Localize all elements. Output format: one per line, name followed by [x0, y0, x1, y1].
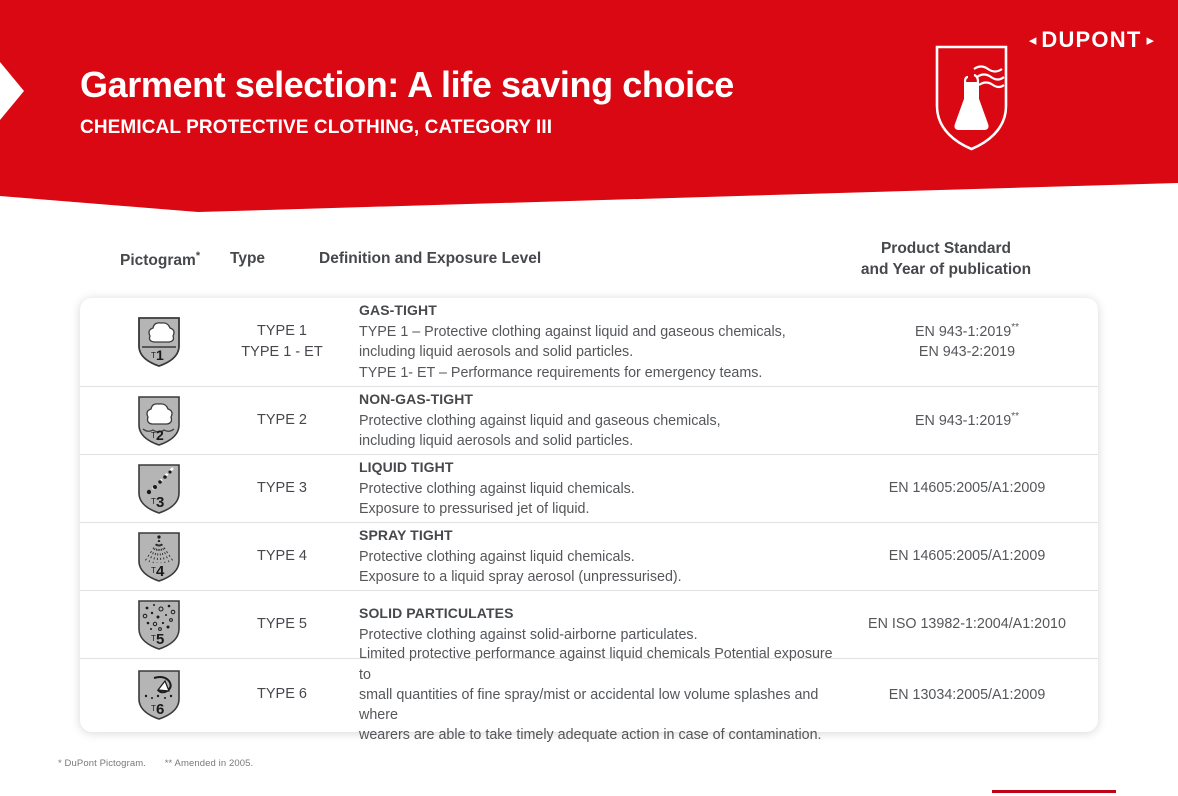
column-header-pictogram-asterisk: *	[196, 250, 200, 262]
row-pictogram-cell: T 5	[80, 599, 238, 651]
row-definition-cell: GAS-TIGHT TYPE 1 – Protective clothing a…	[326, 301, 848, 383]
row-standard-line2: EN 943-2:2019	[848, 342, 1086, 363]
type-1-gas-cloud-shield-pictogram-icon: T 1	[137, 316, 181, 368]
row-definition-cell: SPRAY TIGHT Protective clothing against …	[326, 526, 848, 587]
row-standard-line1: EN 14605:2005/A1:2009	[848, 478, 1086, 499]
type-2-gas-cloud-shield-pictogram-icon: T 2	[137, 395, 181, 447]
row-type-cell: TYPE 4	[238, 546, 326, 567]
row-standard-line1: EN 943-1:2019**	[848, 321, 1086, 342]
svg-text:6: 6	[156, 701, 164, 718]
row-pictogram-cell: T 6	[80, 669, 238, 721]
row-definition-line1: Protective clothing against liquid and g…	[359, 411, 838, 431]
row-type-line1: TYPE 4	[238, 546, 326, 567]
table-row[interactable]: T 1 TYPE 1 TYPE 1 - ET GAS-TIGHT TYPE 1 …	[80, 298, 1098, 387]
table-row[interactable]: T 3 TYPE 3 LIQUID TIGHT Protective cloth…	[80, 455, 1098, 523]
column-header-pictogram: Pictogram*	[120, 250, 200, 270]
row-pictogram-cell: T 1	[80, 316, 238, 368]
svg-text:4: 4	[156, 563, 165, 580]
wordmark-right-chevron-icon: ▸	[1146, 33, 1154, 48]
row-standard-cell: EN 13034:2005/A1:2009	[848, 685, 1098, 706]
row-type-cell: TYPE 3	[238, 478, 326, 499]
row-standard-line1: EN 13034:2005/A1:2009	[848, 685, 1086, 706]
svg-text:3: 3	[156, 494, 164, 511]
row-type-cell: TYPE 1 TYPE 1 - ET	[238, 321, 326, 363]
type-4-spray-shield-pictogram-icon: T 4	[137, 531, 181, 583]
footnote-pictogram: * DuPont Pictogram.	[58, 758, 146, 769]
row-pictogram-cell: T 2	[80, 395, 238, 447]
column-header-pictogram-label: Pictogram	[120, 252, 196, 269]
table-row[interactable]: T 2 TYPE 2 NON-GAS-TIGHT Protective clot…	[80, 387, 1098, 455]
row-definition-cell: LIQUID TIGHT Protective clothing against…	[326, 458, 848, 519]
types-table-card: T 1 TYPE 1 TYPE 1 - ET GAS-TIGHT TYPE 1 …	[80, 298, 1098, 732]
row-definition-line1: Protective clothing against solid-airbor…	[359, 625, 838, 645]
row-definition-line1: Protective clothing against liquid chemi…	[359, 479, 838, 499]
row-standard-cell: EN ISO 13982-1:2004/A1:2010	[848, 614, 1098, 635]
row-definition-cell: NON-GAS-TIGHT Protective clothing agains…	[326, 390, 848, 451]
row-standard-line1: EN 943-1:2019**	[848, 410, 1086, 431]
row-definition-line2: Exposure to a liquid spray aerosol (unpr…	[359, 567, 838, 587]
page-subtitle: CHEMICAL PROTECTIVE CLOTHING, CATEGORY I…	[80, 117, 552, 139]
row-standard-line1-text: EN 943-1:2019	[915, 324, 1011, 340]
row-definition-title: SOLID PARTICULATES	[359, 604, 838, 624]
type-6-splash-shield-pictogram-icon: T 6	[137, 669, 181, 721]
row-definition-line1: TYPE 1 – Protective clothing against liq…	[359, 322, 838, 342]
bottom-red-rule	[992, 790, 1116, 793]
row-definition-line2: including liquid aerosols and solid part…	[359, 342, 838, 362]
table-header: Pictogram* Type Definition and Exposure …	[0, 238, 1178, 288]
column-header-standard-line2: and Year of publication	[830, 260, 1062, 281]
row-type-line1: TYPE 3	[238, 478, 326, 499]
row-standard-line1: EN ISO 13982-1:2004/A1:2010	[848, 614, 1086, 635]
row-definition-line2: Exposure to pressurised jet of liquid.	[359, 499, 838, 519]
row-definition-line3: wearers are able to take timely adequate…	[359, 725, 838, 745]
svg-text:2: 2	[156, 427, 164, 443]
row-standard-line1-marker: **	[1011, 411, 1019, 422]
column-header-standard: Product Standard and Year of publication	[830, 239, 1062, 281]
row-definition-line2: including liquid aerosols and solid part…	[359, 431, 838, 451]
wordmark-left-chevron-icon: ◂	[1029, 33, 1037, 48]
dupont-wordmark: ◂ DUPONT ▸	[1029, 27, 1154, 53]
page-title: Garment selection: A life saving choice	[80, 64, 734, 106]
type-3-liquid-jet-shield-pictogram-icon: T 3	[137, 463, 181, 515]
slide-page: Garment selection: A life saving choice …	[0, 0, 1178, 796]
row-type-line1: TYPE 5	[238, 614, 326, 635]
row-type-line2: TYPE 1 - ET	[238, 342, 326, 363]
row-standard-cell: EN 14605:2005/A1:2009	[848, 478, 1098, 499]
row-standard-line1-marker: **	[1011, 322, 1019, 333]
row-standard-cell: EN 943-1:2019** EN 943-2:2019	[848, 321, 1098, 363]
wordmark-text: DUPONT	[1041, 27, 1141, 53]
row-definition-cell: SOLID PARTICULATES Protective clothing a…	[326, 604, 848, 645]
column-header-standard-line1: Product Standard	[830, 239, 1062, 260]
row-definition-title: LIQUID TIGHT	[359, 458, 838, 478]
table-row[interactable]: T 4 TYPE 4 SPRAY TIGHT Protective clothi…	[80, 523, 1098, 591]
row-definition-line1: Protective clothing against liquid chemi…	[359, 547, 838, 567]
svg-text:5: 5	[156, 631, 164, 648]
row-pictogram-cell: T 4	[80, 531, 238, 583]
row-type-cell: TYPE 6	[238, 684, 326, 705]
row-definition-line2: small quantities of fine spray/mist or a…	[359, 685, 838, 726]
row-definition-cell: Limited protective performance against l…	[326, 644, 848, 745]
row-definition-title: SPRAY TIGHT	[359, 526, 838, 546]
row-definition-title: GAS-TIGHT	[359, 301, 838, 321]
row-standard-cell: EN 943-1:2019**	[848, 410, 1098, 431]
row-type-line1: TYPE 1	[238, 321, 326, 342]
row-definition-line1: Limited protective performance against l…	[359, 644, 838, 685]
row-standard-line1: EN 14605:2005/A1:2009	[848, 546, 1086, 567]
footnote-amended: ** Amended in 2005.	[165, 758, 254, 769]
row-type-cell: TYPE 5	[238, 614, 326, 635]
row-type-cell: TYPE 2	[238, 410, 326, 431]
row-standard-cell: EN 14605:2005/A1:2009	[848, 546, 1098, 567]
svg-text:1: 1	[156, 347, 164, 363]
table-row[interactable]: T 6 TYPE 6 Limited protective performanc…	[80, 659, 1098, 731]
row-definition-line3: TYPE 1- ET – Performance requirements fo…	[359, 363, 838, 383]
type-5-particulates-shield-pictogram-icon: T 5	[137, 599, 181, 651]
dupont-shield-flask-logo-icon	[934, 44, 1009, 152]
row-type-line1: TYPE 6	[238, 684, 326, 705]
column-header-definition: Definition and Exposure Level	[319, 250, 541, 268]
column-header-type: Type	[230, 250, 265, 268]
row-pictogram-cell: T 3	[80, 463, 238, 515]
row-standard-line1-text: EN 943-1:2019	[915, 413, 1011, 429]
footnote-row: * DuPont Pictogram. ** Amended in 2005.	[58, 758, 253, 769]
row-definition-title: NON-GAS-TIGHT	[359, 390, 838, 410]
row-type-line1: TYPE 2	[238, 410, 326, 431]
